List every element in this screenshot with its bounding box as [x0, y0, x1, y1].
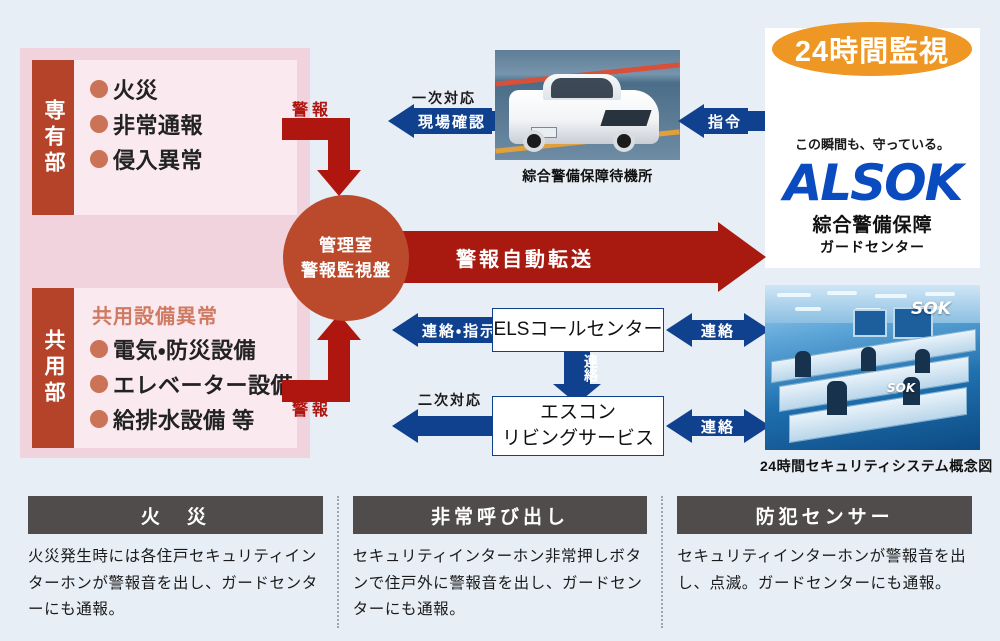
list-item-label: 電気・防災設備: [113, 333, 256, 365]
control-room-photo: SOK SOK: [765, 285, 980, 450]
secondary-response-arrow-icon: [392, 409, 504, 443]
label-command: 指令: [702, 108, 748, 134]
feature-card-security-sensor: 防犯センサー セキュリティインターホンが警報音を出し、点滅。ガードセンターにも通…: [661, 496, 986, 628]
card-body: セキュリティインターホンが警報音を出し、点滅。ガードセンターにも通報。: [677, 544, 972, 597]
group-tab-common: 共用部: [32, 288, 74, 448]
card-title: 火 災: [28, 496, 323, 534]
box-els-call-center[interactable]: ELSコールセンター: [492, 308, 664, 352]
list-item: 電気・防災設備: [90, 333, 297, 365]
list-item: 火災: [90, 73, 297, 105]
card-body: 火災発生時には各住戸セキュリティインターホンが警報音を出し、ガードセンターにも通…: [28, 544, 323, 624]
list-item: エレベーター設備: [90, 368, 297, 400]
bullet-dot-icon: [90, 115, 108, 133]
list-item-label: エレベーター設備: [113, 368, 293, 400]
command-arrow-icon: 指令: [678, 104, 768, 138]
group-body-common: 共用設備異常 電気・防災設備 エレベーター設備 給排水設備 等: [74, 288, 297, 448]
node-line-1: 管理室: [319, 233, 373, 259]
group-body-exclusive: 火災 非常通報 侵入異常: [74, 60, 297, 215]
list-item-label: 給排水設備 等: [113, 403, 255, 435]
card-body: セキュリティインターホン非常押しボタンで住戸外に警報音を出し、ガードセンターにも…: [353, 544, 648, 624]
contact-instruction-arrow-icon: 連絡・指示: [392, 313, 504, 347]
sok-watermark-lower: SOK: [887, 381, 915, 395]
list-item: 侵入異常: [90, 143, 297, 175]
list-item: 給排水設備 等: [90, 403, 297, 435]
bullet-dot-icon: [90, 410, 108, 428]
contact-down-arrow-icon: 連絡: [553, 352, 601, 402]
group-exclusive-area: 専有部 火災 非常通報 侵入異常: [32, 60, 297, 215]
alsok-tagline: この瞬間も、守っている。: [765, 134, 980, 153]
bullet-dot-icon: [90, 150, 108, 168]
feature-card-fire: 火 災 火災発生時には各住戸セキュリティインターホンが警報音を出し、ガードセンタ…: [14, 496, 337, 628]
box-escon-line-1: エスコン: [540, 400, 616, 426]
group-heading-common: 共用設備異常: [92, 300, 297, 329]
alsok-logo: ALSOK: [765, 154, 980, 212]
box-escon-living-service[interactable]: エスコン リビングサービス: [492, 396, 664, 456]
alarm-label-bottom: 警報: [292, 396, 332, 420]
label-secondary-response: 二次対応: [418, 390, 482, 410]
badge-24h-monitoring: 24時間監視: [772, 22, 972, 76]
label-contact-els: 連絡: [666, 318, 770, 342]
feature-card-list: 火 災 火災発生時には各住戸セキュリティインターホンが警報音を出し、ガードセンタ…: [14, 496, 986, 628]
node-management-room: 管理室 警報監視盤: [283, 195, 409, 321]
list-item-label: 非常通報: [113, 108, 203, 140]
control-room-caption: 24時間セキュリティシステム概念図: [760, 456, 988, 476]
group-common-area: 共用部 共用設備異常 電気・防災設備 エレベーター設備 給排水設備 等: [32, 288, 297, 448]
diagram-canvas: 専有部 火災 非常通報 侵入異常 共用部 共用設備異常 電気・防災設備: [0, 0, 1000, 641]
bullet-dot-icon: [90, 340, 108, 358]
label-contact-escon: 連絡: [666, 414, 770, 438]
alarm-label-top: 警報: [292, 96, 332, 120]
contact-arrow-escon-icon: 連絡: [666, 409, 770, 443]
alsok-guard-center: ガードセンター: [765, 237, 980, 257]
contact-arrow-els-icon: 連絡: [666, 313, 770, 347]
list-item-label: 侵入異常: [113, 143, 203, 175]
card-title: 非常呼び出し: [353, 496, 648, 534]
patrol-car-caption: 綜合警備保障待機所: [495, 166, 680, 186]
bullet-dot-icon: [90, 80, 108, 98]
alarm-arrow-up-icon: [282, 310, 364, 402]
card-title: 防犯センサー: [677, 496, 972, 534]
label-contact-vertical: 連絡: [553, 354, 601, 382]
site-check-arrow-icon: 現場確認: [388, 104, 496, 138]
sok-watermark-upper: SOK: [911, 299, 951, 319]
bullet-dot-icon: [90, 375, 108, 393]
list-item-label: 火災: [113, 73, 158, 105]
group-tab-exclusive: 専有部: [32, 60, 74, 215]
box-escon-line-2: リビングサービス: [502, 426, 654, 452]
node-line-2: 警報監視盤: [301, 258, 391, 284]
label-site-check: 現場確認: [412, 108, 492, 134]
alsok-company-name: 綜合警備保障: [765, 210, 980, 237]
label-contact-instruction: 連絡・指示: [416, 317, 503, 343]
patrol-car-photo: [495, 50, 680, 160]
feature-card-emergency-call: 非常呼び出し セキュリティインターホン非常押しボタンで住戸外に警報音を出し、ガー…: [337, 496, 662, 628]
list-item: 非常通報: [90, 108, 297, 140]
